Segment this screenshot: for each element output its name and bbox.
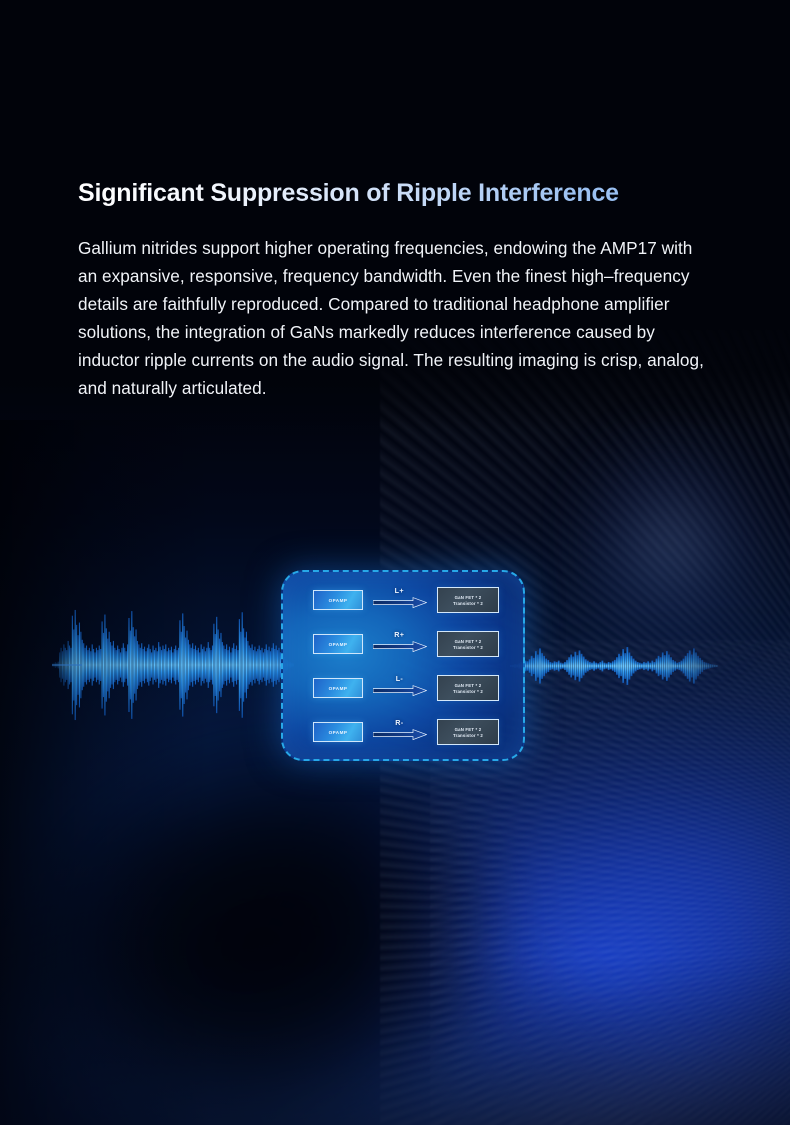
gan-fet-label: GaN FET * 2	[455, 683, 482, 688]
background-pale-arc	[112, 871, 790, 1125]
diagram-row: OPAMPR-GaN FET * 2Transistor * 2	[295, 717, 511, 747]
promo-page: Significant Suppression of Ripple Interf…	[0, 0, 790, 1125]
signal-arrow: L+	[363, 585, 437, 615]
transistor-label: Transistor * 2	[453, 733, 483, 738]
channel-label: R-	[395, 718, 403, 727]
channel-label: L-	[396, 674, 403, 683]
gan-output-block: GaN FET * 2Transistor * 2	[437, 631, 499, 657]
input-audio-waveform	[52, 604, 294, 726]
signal-arrow: R-	[363, 717, 437, 747]
arrow-icon	[373, 597, 427, 609]
arrow-icon	[373, 685, 427, 697]
gan-amplifier-block-diagram: OPAMPL+GaN FET * 2Transistor * 2OPAMPR+G…	[281, 570, 525, 761]
gan-fet-label: GaN FET * 2	[455, 639, 482, 644]
opamp-label: OPAMP	[329, 642, 348, 647]
opamp-block: OPAMP	[313, 590, 363, 610]
background-bottom-vignette	[0, 955, 790, 1125]
diagram-row: OPAMPL+GaN FET * 2Transistor * 2	[295, 585, 511, 615]
opamp-label: OPAMP	[329, 730, 348, 735]
output-audio-waveform	[510, 630, 718, 702]
gan-output-block: GaN FET * 2Transistor * 2	[437, 675, 499, 701]
gan-output-block: GaN FET * 2Transistor * 2	[437, 587, 499, 613]
body-paragraph: Gallium nitrides support higher operatin…	[78, 234, 712, 402]
arrow-icon	[373, 729, 427, 741]
text-block: Significant Suppression of Ripple Interf…	[78, 178, 712, 402]
transistor-label: Transistor * 2	[453, 689, 483, 694]
page-title: Significant Suppression of Ripple Interf…	[78, 178, 712, 208]
transistor-label: Transistor * 2	[453, 645, 483, 650]
gan-fet-label: GaN FET * 2	[455, 595, 482, 600]
signal-arrow: L-	[363, 673, 437, 703]
opamp-block: OPAMP	[313, 634, 363, 654]
background-left-vignette	[0, 420, 210, 1125]
background-base-gradient	[0, 0, 790, 1125]
gan-fet-label: GaN FET * 2	[455, 727, 482, 732]
opamp-block: OPAMP	[313, 722, 363, 742]
arrow-icon	[373, 641, 427, 653]
gan-output-block: GaN FET * 2Transistor * 2	[437, 719, 499, 745]
transistor-label: Transistor * 2	[453, 601, 483, 606]
channel-label: L+	[395, 586, 404, 595]
diagram-row: OPAMPL-GaN FET * 2Transistor * 2	[295, 673, 511, 703]
channel-label: R+	[394, 630, 404, 639]
signal-arrow: R+	[363, 629, 437, 659]
diagram-row: OPAMPR+GaN FET * 2Transistor * 2	[295, 629, 511, 659]
opamp-block: OPAMP	[313, 678, 363, 698]
opamp-label: OPAMP	[329, 598, 348, 603]
opamp-label: OPAMP	[329, 686, 348, 691]
